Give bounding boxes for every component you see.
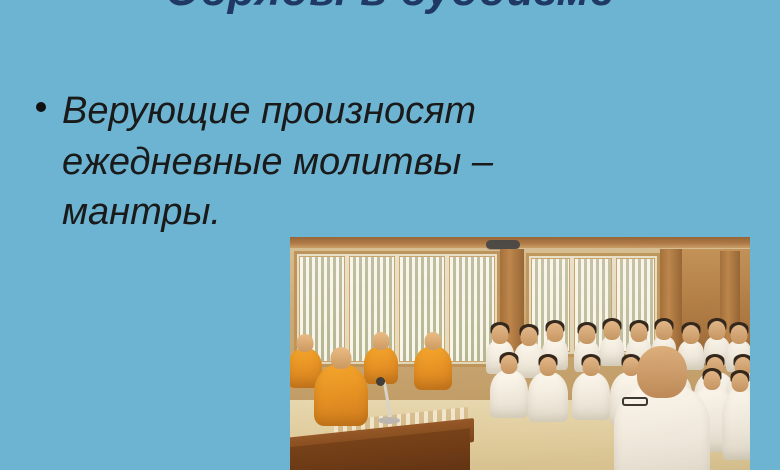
slide-canvas: Обряды в буддизме Верующие произносят еж… — [0, 0, 780, 470]
list-item: Верующие произносят ежедневные молитвы –… — [36, 86, 596, 238]
microphone-icon — [376, 377, 385, 386]
audience-person — [600, 336, 624, 366]
slide-photo — [290, 237, 750, 470]
audience-person — [722, 388, 750, 460]
audience-person — [572, 372, 610, 420]
ceiling-trim — [290, 237, 750, 248]
photo-scene — [290, 237, 750, 470]
bullet-line-2: ежедневные молитвы – — [62, 137, 596, 188]
audience-person — [490, 370, 528, 418]
window-bank-left — [294, 251, 500, 367]
bullet-marker-icon — [36, 86, 62, 112]
ceiling-projector-icon — [486, 240, 520, 249]
bullet-line-3: мантры. — [62, 187, 596, 238]
microphone-base — [378, 417, 400, 424]
bullet-item-text: Верующие произносят ежедневные молитвы –… — [62, 86, 596, 238]
bullet-list: Верующие произносят ежедневные молитвы –… — [36, 86, 596, 238]
eyeglasses-icon — [622, 397, 648, 406]
audience-person — [528, 372, 568, 422]
bullet-line-1: Верующие произносят — [62, 86, 596, 137]
speaking-monk-figure — [314, 364, 368, 426]
page-title: Обряды в буддизме — [0, 0, 780, 17]
monk-figure — [414, 346, 452, 390]
